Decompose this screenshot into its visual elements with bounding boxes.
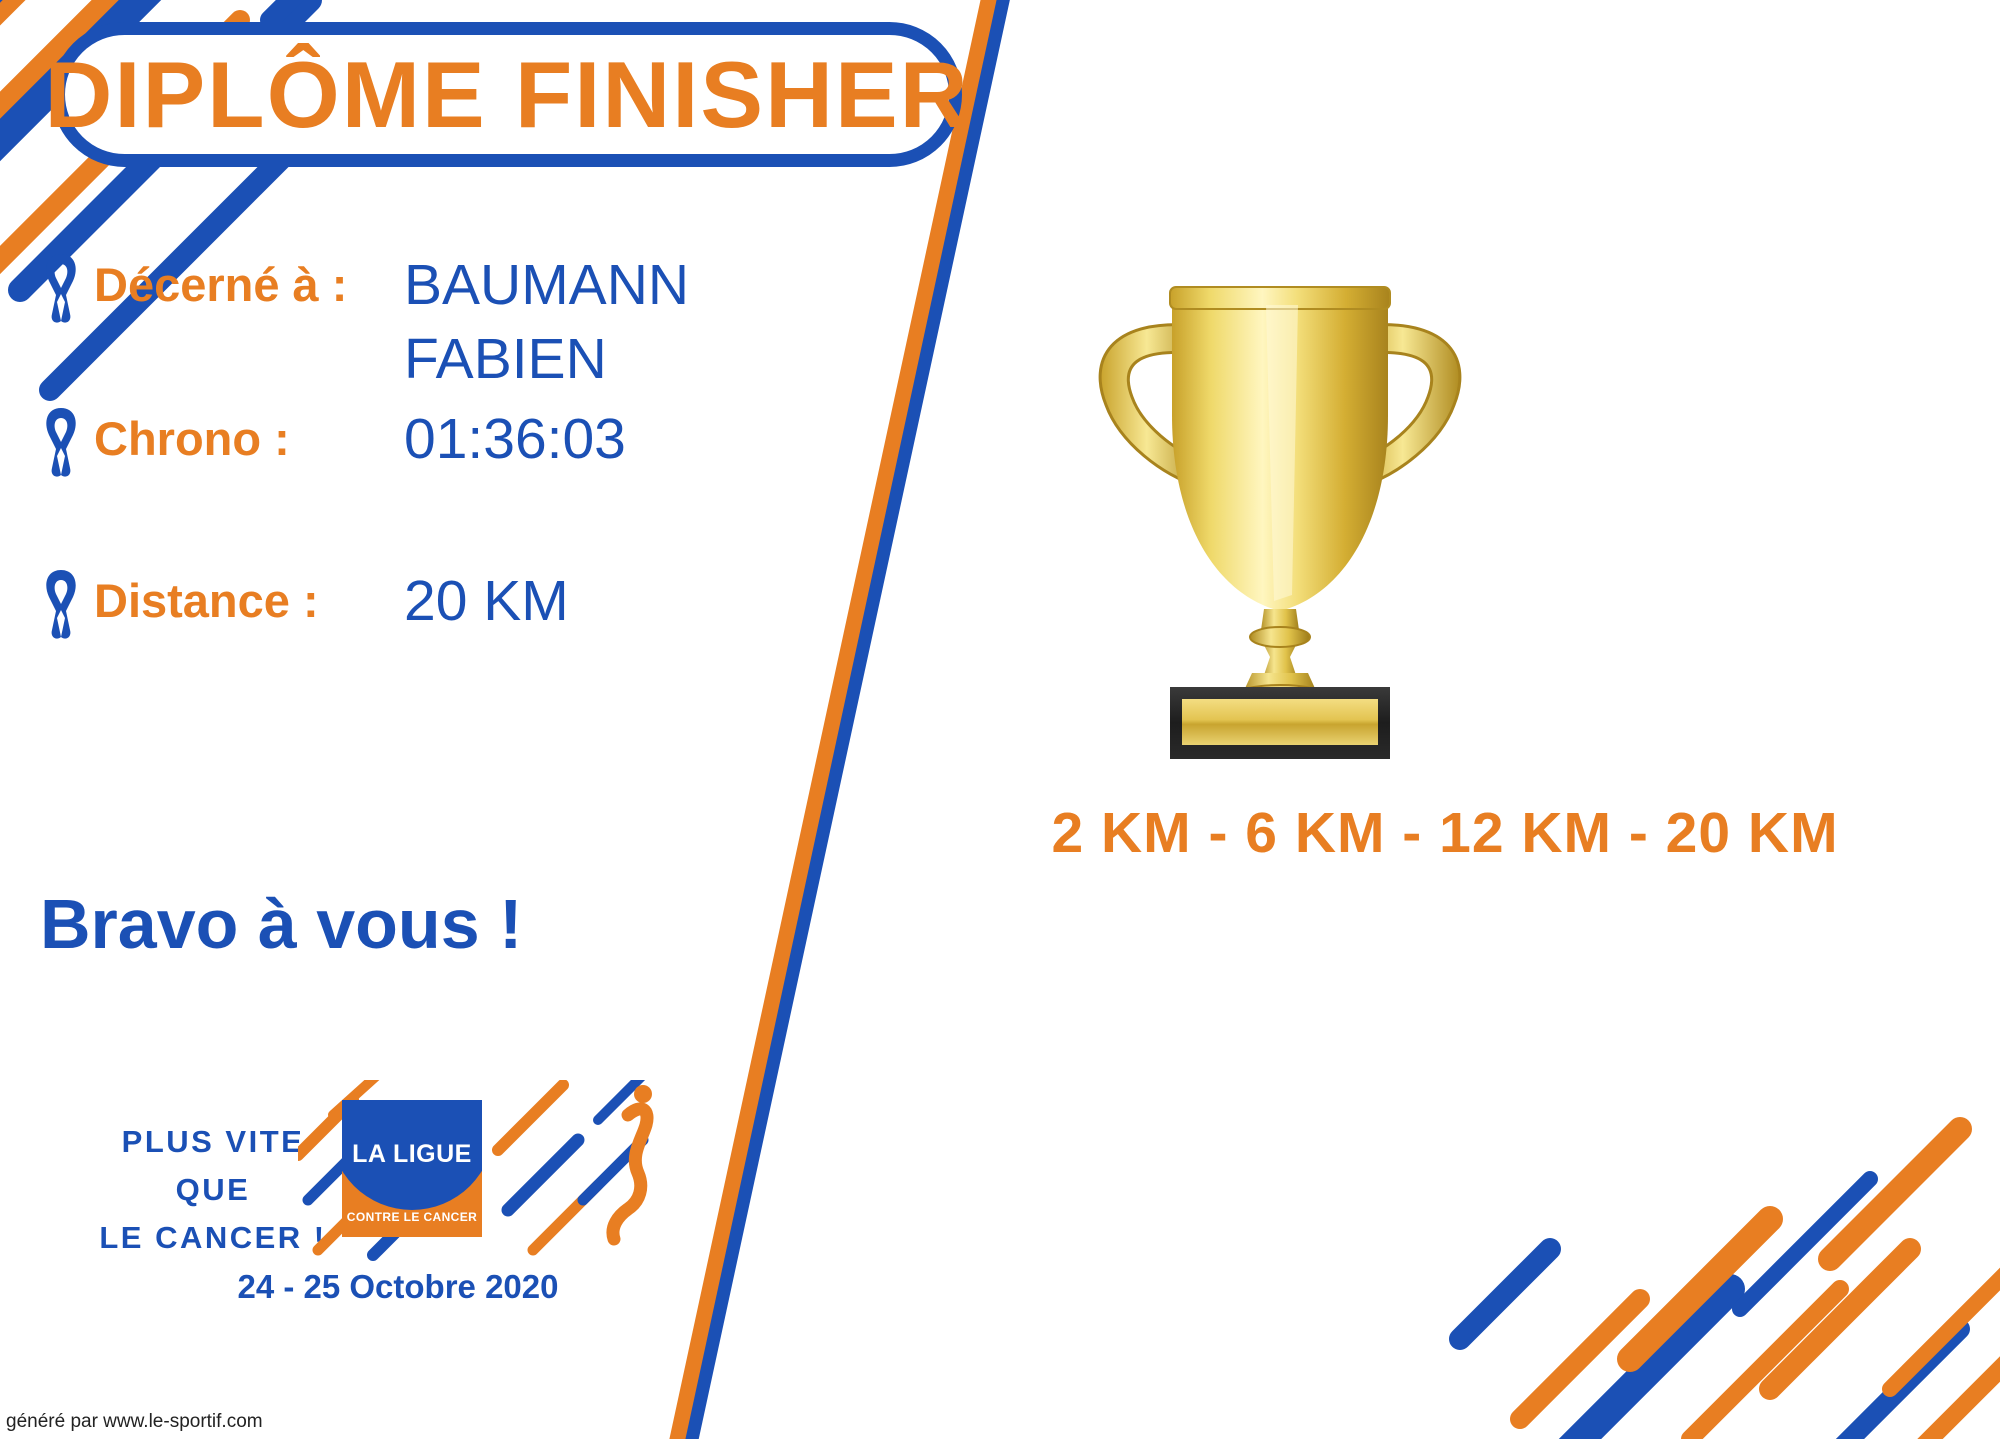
detail-row-distance: Distance : 20 KM bbox=[38, 564, 798, 642]
ribbon-icon bbox=[38, 252, 84, 326]
la-ligue-logo: LA LIGUE CONTRE LE CANCER bbox=[342, 1100, 482, 1237]
finisher-certificate: DIPLÔME FINISHER Décerné à : BAUMANN FAB… bbox=[0, 0, 2000, 1439]
slogan-line-1: PLUS VITE bbox=[88, 1118, 338, 1166]
congratulation-text: Bravo à vous ! bbox=[40, 884, 522, 964]
footer-generated-by: généré par www.le-sportif.com bbox=[6, 1411, 263, 1433]
page-title: DIPLÔME FINISHER bbox=[44, 48, 969, 142]
detail-value-recipient: BAUMANN FABIEN bbox=[404, 248, 689, 396]
detail-label-chrono: Chrono : bbox=[94, 402, 404, 476]
detail-value-chrono: 01:36:03 bbox=[404, 402, 626, 476]
trophy-icon-svg bbox=[1070, 265, 1490, 775]
detail-label-recipient: Décerné à : bbox=[94, 248, 404, 322]
slogan-line-2: QUE bbox=[88, 1166, 338, 1214]
la-ligue-brand-name: LA LIGUE bbox=[342, 1140, 482, 1169]
la-ligue-brand-sub: CONTRE LE CANCER bbox=[342, 1210, 482, 1224]
detail-value-distance: 20 KM bbox=[404, 564, 569, 638]
certificate-details: Décerné à : BAUMANN FABIEN Chrono : 01:3… bbox=[38, 248, 798, 660]
slogan: PLUS VITE QUE LE CANCER ! bbox=[88, 1118, 338, 1262]
race-distances: 2 KM - 6 KM - 12 KM - 20 KM bbox=[900, 800, 1990, 866]
ribbon-icon bbox=[38, 406, 84, 480]
sponsor-logo-block: PLUS VITE QUE LE CANCER ! bbox=[88, 1100, 698, 1410]
certificate-title-box: DIPLÔME FINISHER bbox=[52, 22, 962, 167]
event-date: 24 - 25 Octobre 2020 bbox=[198, 1268, 598, 1306]
detail-row-chrono: Chrono : 01:36:03 bbox=[38, 402, 798, 480]
detail-row-recipient: Décerné à : BAUMANN FABIEN bbox=[38, 248, 798, 396]
divider-stripe-blue bbox=[671, 0, 1106, 1439]
decorative-stripes-bottom-right bbox=[1440, 1059, 2000, 1439]
slogan-line-3: LE CANCER ! bbox=[88, 1214, 338, 1262]
trophy-icon bbox=[1070, 265, 1490, 775]
stripes-bottom-right-svg bbox=[1440, 1059, 2000, 1439]
ribbon-icon bbox=[38, 568, 84, 642]
divider-stripe-orange bbox=[656, 0, 1094, 1439]
ribbon-icon-svg bbox=[38, 252, 84, 326]
detail-label-distance: Distance : bbox=[94, 564, 404, 638]
ribbon-icon-svg bbox=[38, 406, 84, 480]
ribbon-icon-svg bbox=[38, 568, 84, 642]
